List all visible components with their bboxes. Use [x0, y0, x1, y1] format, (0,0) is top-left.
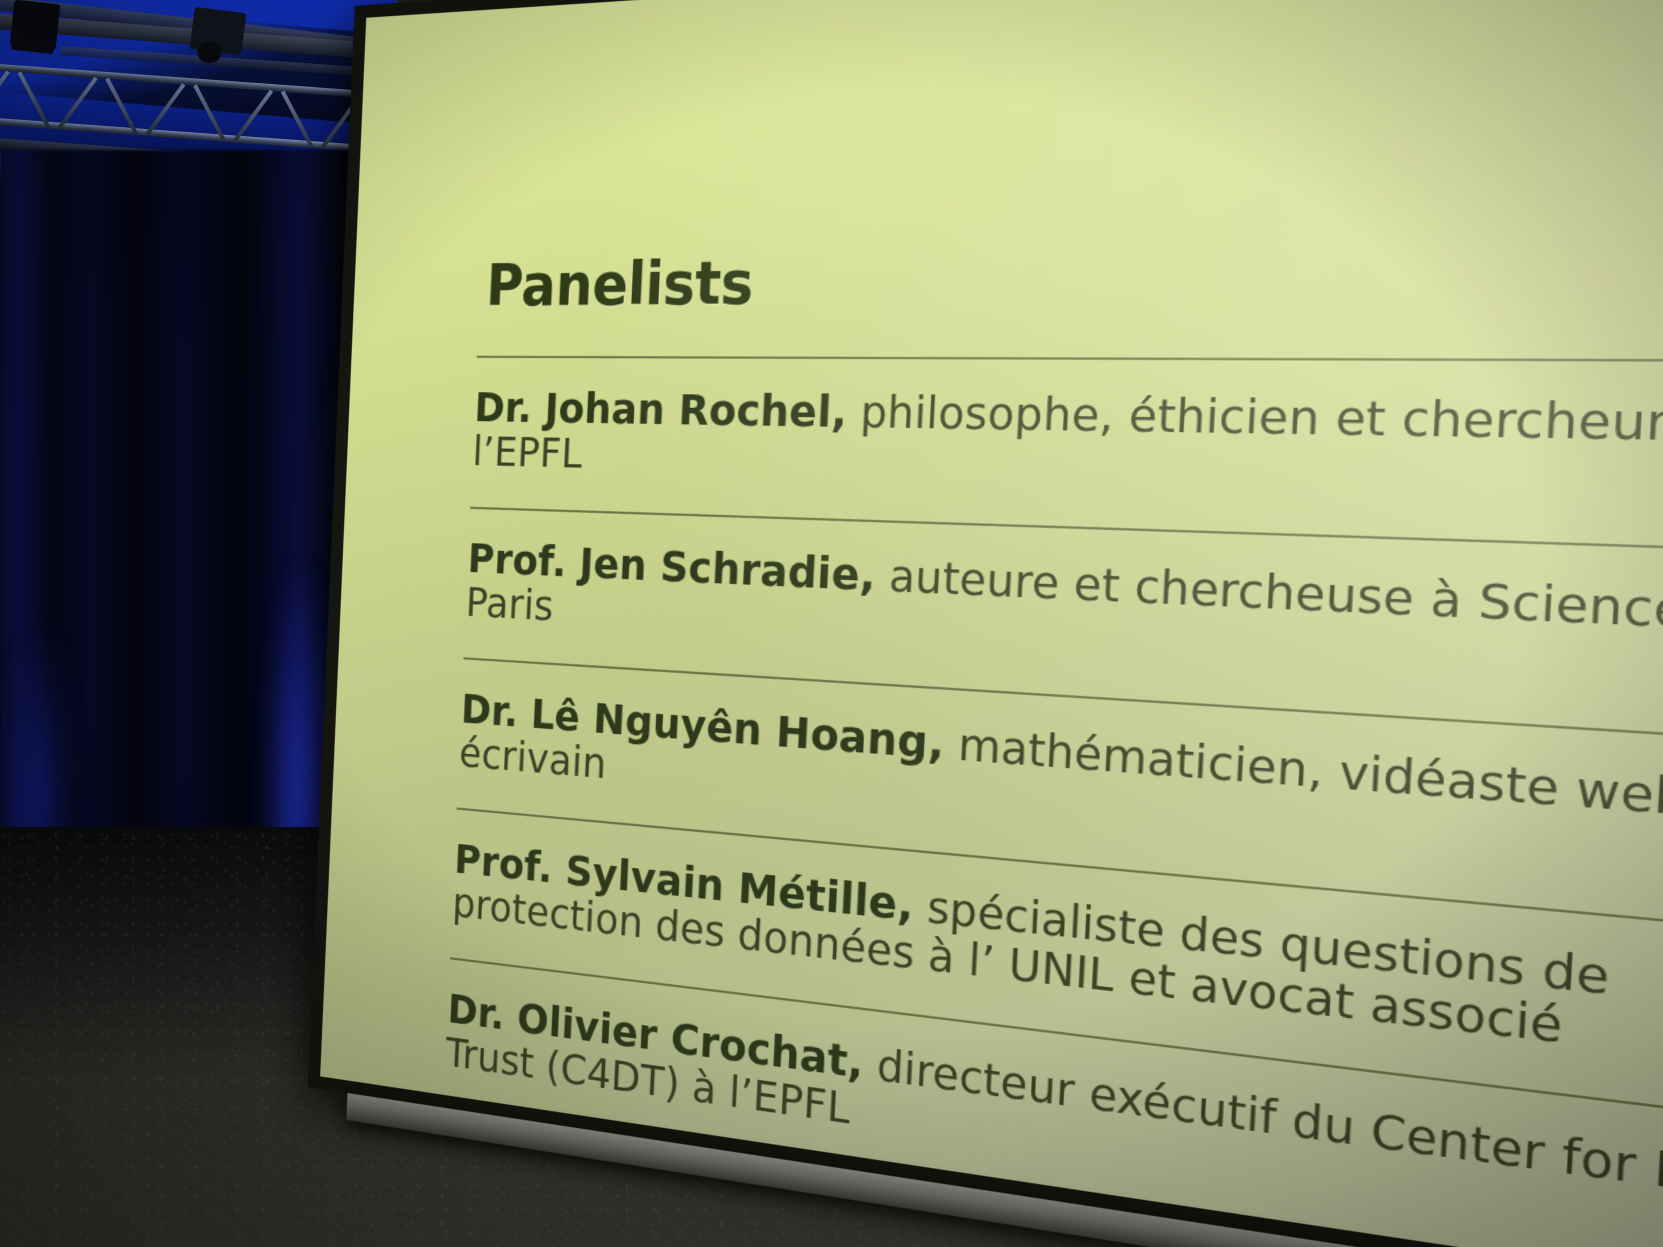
truss-diagonal	[146, 83, 186, 135]
screen-frame: Panelists Dr. Johan Rochel, philosophe, …	[308, 0, 1663, 1247]
slide-title: Panelists	[485, 228, 1663, 319]
truss-diagonal	[0, 70, 10, 122]
conference-room-photo: Panelists Dr. Johan Rochel, philosophe, …	[0, 0, 1663, 1247]
panelist-entry: Dr. Johan Rochel, philosophe, éthicien e…	[472, 386, 1663, 512]
stage-light-fixture-center	[190, 7, 247, 55]
truss-diagonal	[233, 90, 273, 142]
projection-screen: Panelists Dr. Johan Rochel, philosophe, …	[306, 0, 1663, 1247]
panelist-list: Dr. Johan Rochel, philosophe, éthicien e…	[444, 356, 1663, 1247]
stage-light-fixture-left	[10, 0, 61, 50]
presentation-slide: Panelists Dr. Johan Rochel, philosophe, …	[320, 0, 1663, 1247]
truss-diagonal	[58, 77, 98, 129]
slide-content: Panelists Dr. Johan Rochel, philosophe, …	[444, 224, 1663, 1247]
